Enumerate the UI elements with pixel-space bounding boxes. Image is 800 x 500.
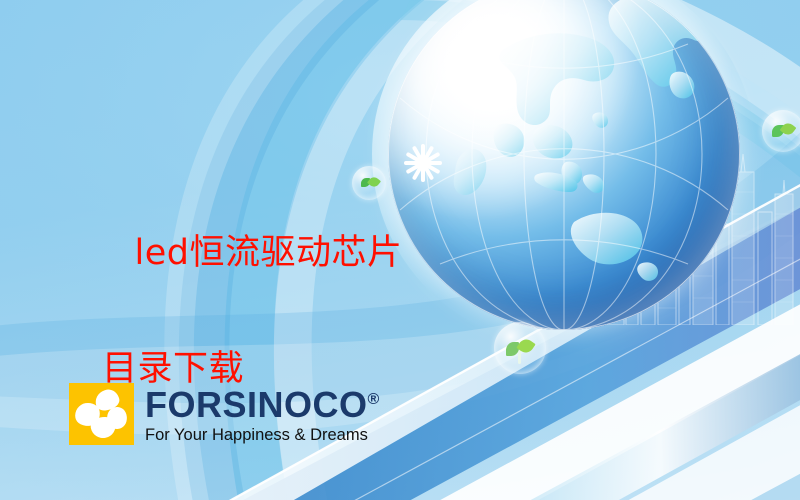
brand-name: FORSINOCO® (145, 382, 380, 423)
forsinoco-pinwheel-mark-icon (69, 383, 134, 445)
brand-word: FORSINOCO (145, 384, 368, 425)
bubble-sprout-icon (494, 322, 546, 374)
company-logo: FORSINOCO® For Your Happiness & Dreams (69, 382, 380, 445)
promotional-banner: led恒流驱动芯片 目录下载 FORSINOCO® For Your Happi… (0, 0, 800, 500)
daisy-flower-icon (402, 142, 444, 184)
logo-text-block: FORSINOCO® For Your Happiness & Dreams (145, 382, 380, 445)
headline-line-1: led恒流驱动芯片 (135, 233, 403, 273)
bubble-leaf-edge-icon (762, 110, 800, 152)
leaf-shape (780, 121, 797, 138)
page-title: led恒流驱动芯片 目录下载 (88, 166, 403, 500)
brand-tagline: For Your Happiness & Dreams (145, 425, 380, 445)
registered-mark: ® (368, 391, 380, 408)
